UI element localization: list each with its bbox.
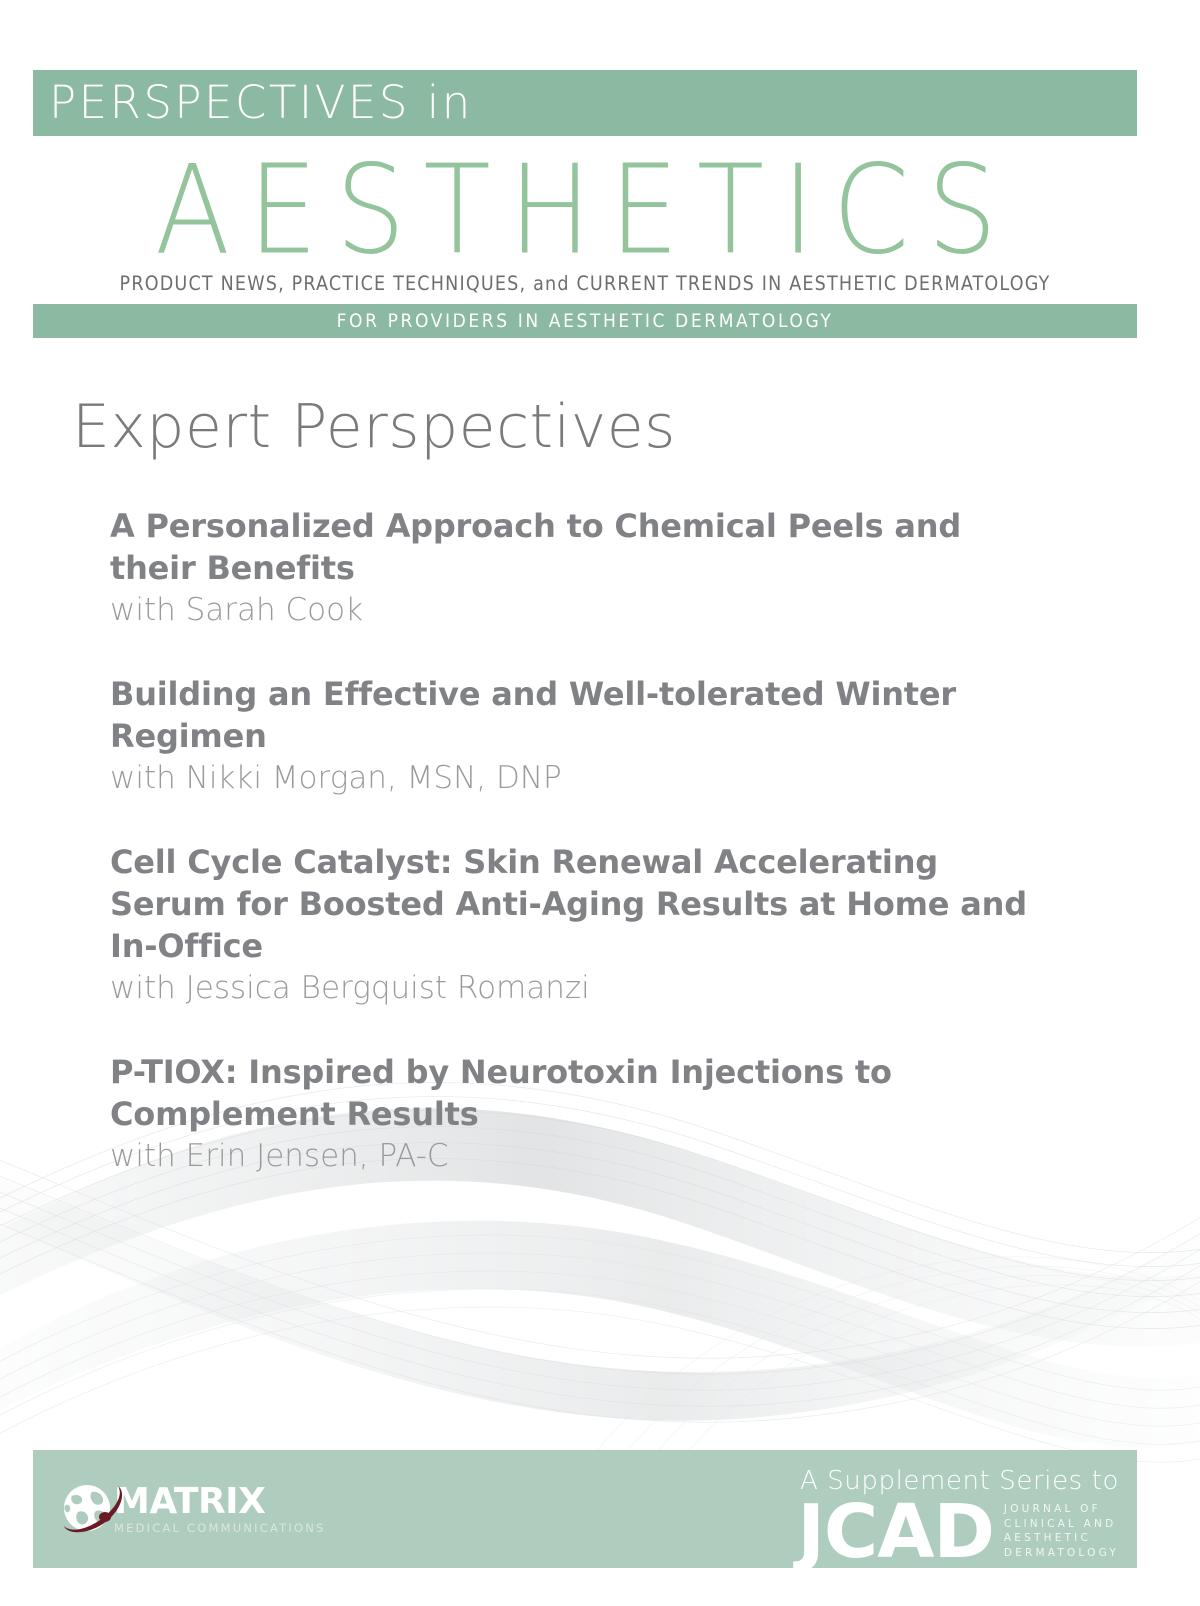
masthead: PERSPECTIVES in AESTHETICS PRODUCT NEWS,…	[33, 70, 1137, 338]
perspectives-label: PERSPECTIVES in	[49, 76, 473, 129]
jcad-descriptor-line: DERMATOLOGY	[1004, 1546, 1119, 1561]
matrix-logo: MATRIX MEDICAL COMMUNICATIONS	[58, 1478, 326, 1540]
footer-bar: MATRIX MEDICAL COMMUNICATIONS A Suppleme…	[33, 1450, 1137, 1568]
article-list: A Personalized Approach to Chemical Peel…	[110, 505, 1040, 1177]
matrix-wordmark: MATRIX MEDICAL COMMUNICATIONS	[114, 1484, 326, 1535]
matrix-name: MATRIX	[114, 1484, 326, 1520]
jcad-descriptor-line: AESTHETIC	[1004, 1531, 1119, 1546]
perspectives-bar: PERSPECTIVES in	[33, 70, 1137, 136]
providers-bar: FOR PROVIDERS IN AESTHETIC DERMATOLOGY	[33, 304, 1137, 338]
list-item: Building an Effective and Well-tolerated…	[110, 673, 1040, 799]
list-item: A Personalized Approach to Chemical Peel…	[110, 505, 1040, 631]
article-title: A Personalized Approach to Chemical Peel…	[110, 505, 1040, 589]
article-author: with Jessica Bergquist Romanzi	[110, 967, 1040, 1009]
list-item: P-TIOX: Inspired by Neurotoxin Injection…	[110, 1051, 1040, 1177]
article-title: P-TIOX: Inspired by Neurotoxin Injection…	[110, 1051, 1040, 1135]
jcad-branding: A Supplement Series to JCAD JOURNAL OF C…	[797, 1466, 1119, 1566]
aesthetics-wordmark: AESTHETICS	[33, 146, 1137, 275]
article-author: with Sarah Cook	[110, 589, 1040, 631]
matrix-subtitle: MEDICAL COMMUNICATIONS	[114, 1523, 326, 1535]
article-author: with Erin Jensen, PA-C	[110, 1135, 1040, 1177]
providers-bar-label: FOR PROVIDERS IN AESTHETIC DERMATOLOGY	[337, 310, 834, 332]
jcad-wordmark: JCAD	[797, 1498, 994, 1566]
article-title: Cell Cycle Catalyst: Skin Renewal Accele…	[110, 841, 1040, 967]
jcad-descriptor-line: JOURNAL OF	[1004, 1502, 1119, 1517]
globe-icon	[58, 1478, 120, 1540]
list-item: Cell Cycle Catalyst: Skin Renewal Accele…	[110, 841, 1040, 1009]
page-title: Expert Perspectives	[72, 392, 676, 462]
article-author: with Nikki Morgan, MSN, DNP	[110, 757, 1040, 799]
jcad-descriptor-line: CLINICAL AND	[1004, 1517, 1119, 1532]
jcad-descriptor: JOURNAL OF CLINICAL AND AESTHETIC DERMAT…	[1004, 1502, 1119, 1560]
publication-cover-page: PERSPECTIVES in AESTHETICS PRODUCT NEWS,…	[0, 0, 1200, 1606]
article-title: Building an Effective and Well-tolerated…	[110, 673, 1040, 757]
